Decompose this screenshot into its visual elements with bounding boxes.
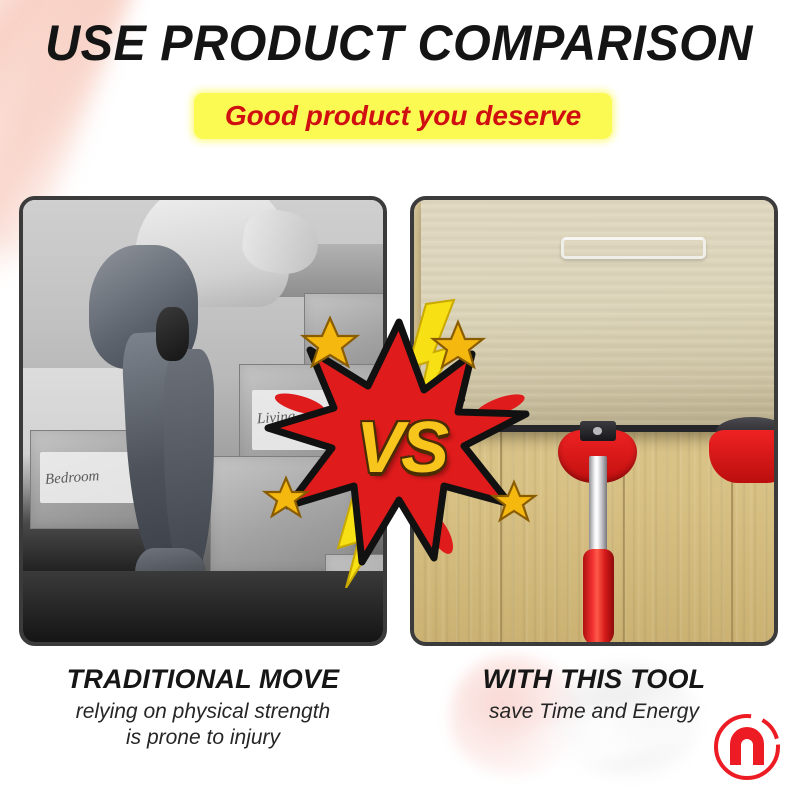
furniture-roller: [709, 430, 778, 483]
cabinet-handle-icon: [561, 237, 707, 259]
lifter-red-grip-handle: [583, 549, 614, 646]
caption-subtext-line: relying on physical strength: [19, 699, 387, 725]
subtitle-banner-text: Good product you deserve: [194, 93, 612, 139]
caption-traditional-move: TRADITIONAL MOVE relying on physical str…: [19, 664, 387, 752]
comparison-panel-traditional: Bedroom Living B: [19, 196, 387, 646]
caption-title: WITH THIS TOOL: [410, 664, 778, 695]
brand-logo-icon: [711, 711, 783, 783]
subtitle-banner: Good product you deserve: [194, 93, 612, 139]
caption-title: TRADITIONAL MOVE: [19, 664, 387, 695]
page-title: USE PRODUCT COMPARISON: [12, 14, 786, 72]
person-lifting-figure: [81, 196, 290, 598]
with-this-tool-photo: [414, 200, 774, 642]
lifter-metal-bracket: [580, 421, 616, 441]
comparison-panel-with-tool: [410, 196, 778, 646]
wood-cabinet: [421, 196, 778, 432]
caption-subtext-line: is prone to injury: [19, 725, 387, 751]
infographic-page: USE PRODUCT COMPARISON Good product you …: [0, 0, 798, 802]
traditional-move-photo: Bedroom Living B: [23, 200, 383, 642]
